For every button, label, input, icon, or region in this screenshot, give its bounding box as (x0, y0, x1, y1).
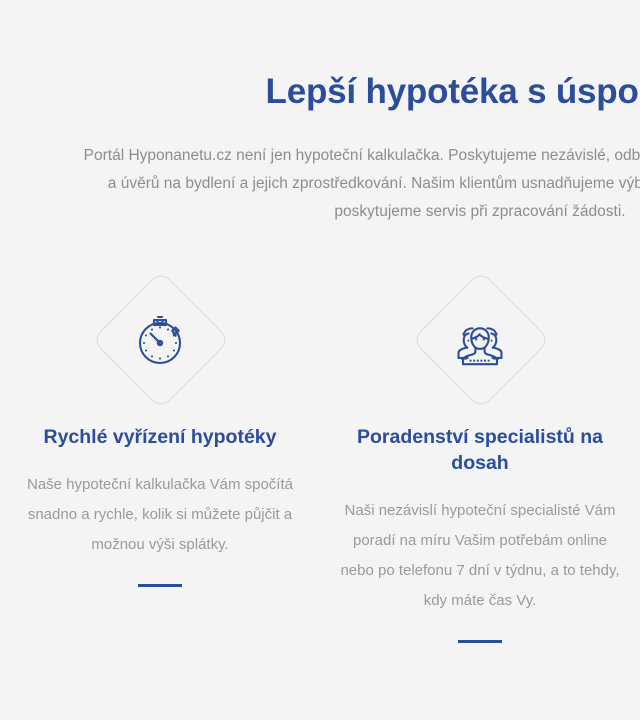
feature-divider (458, 640, 502, 643)
stopwatch-icon (128, 307, 192, 371)
feature-card-poradenstvi: Poradenství specialistů na dosah Naši ne… (320, 264, 640, 643)
feature-card-rychle-vyrizeni: Rychlé vyřízení hypotéky Naše hypoteční … (0, 264, 320, 587)
page-root: Lepší hypotéka s úsporou Portál Hyponane… (0, 0, 640, 720)
feature-title: Rychlé vyřízení hypotéky (16, 424, 304, 450)
hero-section: Lepší hypotéka s úsporou Portál Hyponane… (0, 0, 640, 226)
feature-icon-frame (65, 264, 255, 414)
features-section: Rychlé vyřízení hypotéky Naše hypoteční … (0, 264, 640, 643)
people-group-icon (448, 307, 512, 371)
feature-description: Naše hypoteční kalkulačka Vám spočítá sn… (16, 470, 304, 560)
feature-icon-frame (385, 264, 575, 414)
hero-lead-paragraph: Portál Hyponanetu.cz není jen hypoteční … (80, 142, 640, 226)
page-title: Lepší hypotéka s úsporou (0, 70, 640, 114)
feature-divider (138, 584, 182, 587)
feature-title: Poradenství specialistů na dosah (336, 424, 624, 476)
feature-description: Naši nezávislí hypoteční specialisté Vám… (336, 496, 624, 616)
